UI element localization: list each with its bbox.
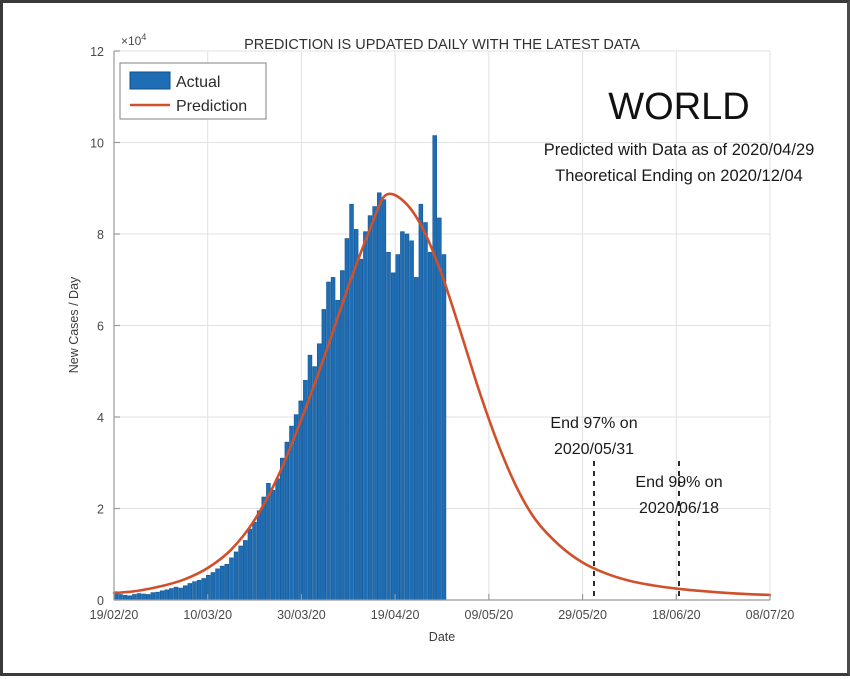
bar-actual <box>174 587 178 600</box>
bar-actual <box>179 588 183 600</box>
bar-actual <box>202 579 206 601</box>
actual-bars <box>114 136 446 600</box>
y-multiplier-label: ×104 <box>121 32 146 48</box>
bar-actual <box>216 569 220 600</box>
annotation-end-97-line1: End 97% on <box>550 415 637 432</box>
bar-actual <box>211 573 215 600</box>
bar-actual <box>382 200 386 600</box>
bar-actual <box>336 300 340 600</box>
bar-actual <box>183 586 187 600</box>
bar-actual <box>400 232 404 600</box>
bar-actual <box>253 522 257 600</box>
bar-actual <box>146 595 150 600</box>
y-tick-label: 12 <box>90 45 104 59</box>
bar-actual <box>123 595 127 600</box>
bar-actual <box>433 136 437 600</box>
bar-actual <box>405 234 409 600</box>
bar-actual <box>220 566 224 600</box>
bar-actual <box>373 207 377 600</box>
bar-actual <box>280 458 284 600</box>
bar-actual <box>294 415 298 600</box>
bar-actual <box>387 252 391 600</box>
bar-actual <box>119 595 123 600</box>
annotation-end-97: End 97% on 2020/05/31 <box>550 415 637 458</box>
bar-actual <box>230 558 234 600</box>
annotation-end-99-line2: 2020/06/18 <box>639 500 719 517</box>
bar-actual <box>359 259 363 600</box>
bar-actual <box>160 591 164 600</box>
y-tick-label: 2 <box>97 503 104 517</box>
bar-actual <box>428 252 432 600</box>
bar-actual <box>239 546 243 600</box>
bar-actual <box>243 541 247 600</box>
bar-actual <box>234 552 238 600</box>
y-tick-label: 10 <box>90 137 104 151</box>
bar-actual <box>313 367 317 600</box>
bar-actual <box>188 584 192 600</box>
figure-frame: PREDICTION IS UPDATED DAILY WITH THE LAT… <box>0 0 850 676</box>
region-title: WORLD <box>608 86 749 128</box>
x-tick-label: 30/03/20 <box>277 608 326 622</box>
bar-actual <box>419 204 423 600</box>
x-tick-label: 18/06/20 <box>652 608 701 622</box>
x-tick-label: 29/05/20 <box>558 608 607 622</box>
bar-actual <box>424 223 428 600</box>
bar-actual <box>340 271 344 600</box>
bar-actual <box>396 255 400 600</box>
legend-label-actual: Actual <box>176 74 220 91</box>
bar-actual <box>276 479 280 600</box>
region-subtitle-data-date: Predicted with Data as of 2020/04/29 <box>544 141 815 159</box>
x-axis-label: Date <box>429 630 455 644</box>
bar-actual <box>132 595 136 600</box>
legend[interactable]: Actual Prediction <box>120 63 266 119</box>
bar-actual <box>364 232 368 600</box>
bar-actual <box>225 564 229 600</box>
x-tick-label: 19/04/20 <box>371 608 420 622</box>
bar-actual <box>391 273 395 600</box>
y-tick-label: 4 <box>97 411 104 425</box>
bar-actual <box>128 596 132 600</box>
annotation-end-99-line1: End 99% on <box>635 474 722 491</box>
annotation-end-97-line2: 2020/05/31 <box>554 441 634 458</box>
y-axis-label: New Cases / Day <box>67 276 81 373</box>
legend-swatch-actual <box>130 72 170 89</box>
y-axis-multiplier: ×104 <box>121 32 146 48</box>
bar-actual <box>317 344 321 600</box>
plot-container: PREDICTION IS UPDATED DAILY WITH THE LAT… <box>3 3 850 679</box>
region-subtitle-theoretical-ending: Theoretical Ending on 2020/12/04 <box>555 167 803 185</box>
bar-actual <box>327 282 331 600</box>
bar-actual <box>151 593 155 600</box>
x-tick-label: 10/03/20 <box>183 608 232 622</box>
covid-prediction-chart: PREDICTION IS UPDATED DAILY WITH THE LAT… <box>3 3 850 679</box>
y-tick-label: 6 <box>97 320 104 334</box>
bar-actual <box>137 594 141 600</box>
bar-actual <box>368 216 372 600</box>
bar-actual <box>156 592 160 600</box>
bar-actual <box>165 590 169 600</box>
bar-actual <box>377 193 381 600</box>
bar-actual <box>290 426 294 600</box>
bar-actual <box>193 582 197 600</box>
bar-actual <box>285 442 289 600</box>
y-tick-label: 0 <box>97 594 104 608</box>
bar-actual <box>299 401 303 600</box>
bar-actual <box>271 490 275 600</box>
bar-actual <box>142 594 146 600</box>
bar-actual <box>442 255 446 600</box>
y-tick-labels: 024681012 <box>90 45 104 608</box>
y-tick-label: 8 <box>97 228 104 242</box>
legend-label-prediction: Prediction <box>176 98 247 115</box>
bar-actual <box>410 241 414 600</box>
bar-actual <box>350 204 354 600</box>
bar-actual <box>169 589 173 600</box>
x-tick-label: 09/05/20 <box>465 608 514 622</box>
region-info-block: WORLD Predicted with Data as of 2020/04/… <box>544 86 815 185</box>
bar-actual <box>414 277 418 600</box>
bar-actual <box>248 529 252 600</box>
bar-actual <box>354 229 358 600</box>
bar-actual <box>257 511 261 600</box>
bar-actual <box>262 497 266 600</box>
x-tick-label: 08/07/20 <box>746 608 795 622</box>
x-tick-labels: 19/02/2010/03/2030/03/2019/04/2009/05/20… <box>90 608 795 622</box>
x-tick-label: 19/02/20 <box>90 608 139 622</box>
bar-actual <box>197 580 201 600</box>
